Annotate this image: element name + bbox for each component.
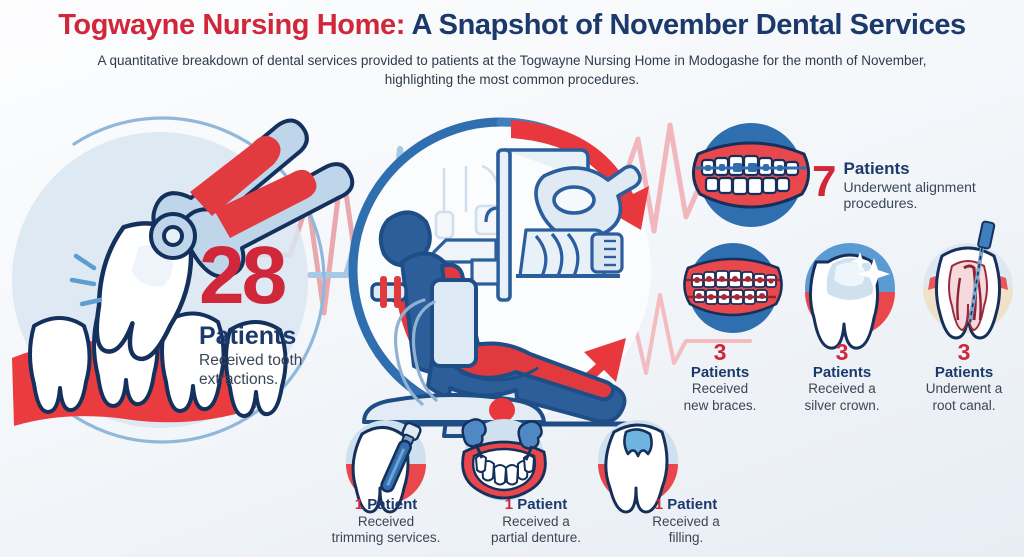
extraction-desc-2: extractions.: [199, 371, 349, 389]
braces-teeth-icon: [678, 240, 788, 336]
filling-desc-2: filling.: [611, 530, 761, 546]
alignment-unit: Patients: [843, 160, 975, 179]
trimming-desc-1: Received: [311, 514, 461, 530]
alignment-count: 7: [812, 164, 835, 199]
braces-count: 3: [660, 340, 780, 364]
denture-desc-1: Received a: [461, 514, 611, 530]
filling-count: 1: [655, 496, 663, 513]
crown-stat: 3 Patients Received a silver crown.: [782, 340, 902, 414]
infographic-canvas: Togwayne Nursing Home: A Snapshot of Nov…: [0, 0, 1024, 557]
braces-mouth-icon: [686, 120, 816, 230]
dental-chair-icon: [336, 110, 666, 440]
braces-stat: 3 Patients Received new braces.: [660, 340, 780, 414]
alignment-desc-1: Underwent alignment: [843, 179, 975, 196]
root-canal-stat: 3 Patients Underwent a root canal.: [904, 340, 1024, 414]
filling-headline: 1 Patient: [611, 496, 761, 514]
crown-unit: Patients: [782, 364, 902, 381]
extraction-desc-1: Received tooth: [199, 352, 349, 370]
trimming-headline: 1 Patient: [311, 496, 461, 514]
root-canal-desc-2: root canal.: [904, 398, 1024, 414]
trimming-desc-2: trimming services.: [311, 530, 461, 546]
filling-stat: 1 Patient Received a filling.: [611, 496, 761, 546]
denture-desc-2: partial denture.: [461, 530, 611, 546]
braces-desc-2: new braces.: [660, 398, 780, 414]
braces-desc-1: Received: [660, 381, 780, 397]
crown-count: 3: [782, 340, 902, 364]
alignment-stat: 7 Patients Underwent alignment procedure…: [812, 160, 1012, 212]
extraction-count: 28: [199, 242, 349, 309]
page-subtitle: A quantitative breakdown of dental servi…: [72, 51, 952, 90]
tooth-filling-icon: [594, 418, 682, 502]
crown-desc-2: silver crown.: [782, 398, 902, 414]
title-rest: A Snapshot of November Dental Services: [405, 9, 966, 41]
alignment-desc-2: procedures.: [843, 195, 975, 212]
denture-count: 1: [505, 496, 513, 513]
denture-unit: Patient: [517, 496, 567, 513]
denture-headline: 1 Patient: [461, 496, 611, 514]
trimming-count: 1: [355, 496, 363, 513]
root-canal-desc-1: Underwent a: [904, 381, 1024, 397]
extraction-unit: Patients: [199, 323, 349, 349]
extraction-stat: 28 Patients Received tooth extractions.: [199, 242, 349, 389]
filling-desc-1: Received a: [611, 514, 761, 530]
medium-stats-row: 3 Patients Received new braces. 3 Patien…: [660, 340, 1024, 414]
trimming-stat: 1 Patient Received trimming services.: [311, 496, 461, 546]
header: Togwayne Nursing Home: A Snapshot of Nov…: [0, 0, 1024, 90]
page-title: Togwayne Nursing Home: A Snapshot of Nov…: [0, 10, 1024, 42]
trimming-unit: Patient: [367, 496, 417, 513]
root-canal-unit: Patients: [904, 364, 1024, 381]
root-canal-count: 3: [904, 340, 1024, 364]
small-stats-row: 1 Patient Received trimming services. 1 …: [311, 496, 761, 546]
tooth-drill-icon: [340, 418, 432, 502]
braces-unit: Patients: [660, 364, 780, 381]
root-canal-icon: [918, 226, 1018, 338]
partial-denture-icon: [456, 416, 552, 502]
filling-unit: Patient: [667, 496, 717, 513]
title-highlight: Togwayne Nursing Home:: [58, 9, 405, 41]
denture-stat: 1 Patient Received a partial denture.: [461, 496, 611, 546]
silver-crown-tooth-icon: [800, 240, 900, 336]
crown-desc-1: Received a: [782, 381, 902, 397]
